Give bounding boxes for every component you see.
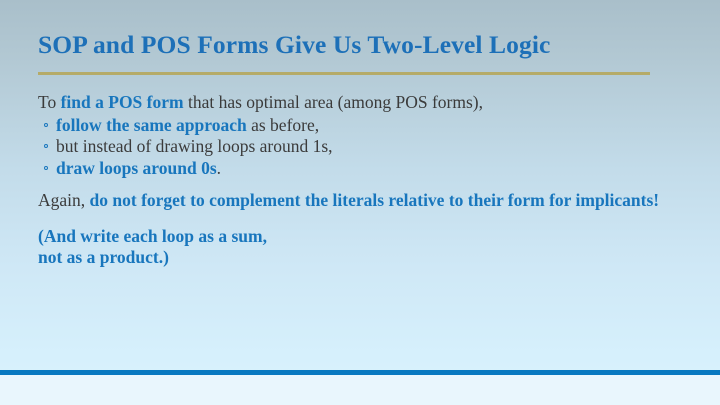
title-block: SOP and POS Forms Give Us Two-Level Logi… — [38, 30, 688, 60]
slide-body: To find a POS form that has optimal area… — [38, 92, 678, 269]
open-circle-bullet-icon — [44, 123, 48, 127]
list-item-emphasis: draw loops around 0s — [56, 158, 217, 178]
page-title: SOP and POS Forms Give Us Two-Level Logi… — [38, 30, 688, 60]
lead-paragraph: To find a POS form that has optimal area… — [38, 92, 678, 114]
list-item: follow the same approach as before, — [38, 115, 678, 137]
lead-suffix: that has optimal area (among POS forms), — [184, 92, 483, 112]
footer: ECE 120: Introduction to Computing © 201… — [0, 375, 720, 405]
note-paragraph: (And write each loop as a sum, not as a … — [38, 226, 678, 269]
open-circle-bullet-icon — [44, 166, 48, 170]
again-paragraph: Again, do not forget to complement the l… — [38, 190, 678, 212]
list-item-emphasis: follow the same approach — [56, 115, 247, 135]
title-underline-rule — [38, 72, 650, 75]
list-item-rest: . — [217, 158, 221, 178]
again-emphasis: do not forget to complement the literals… — [90, 190, 660, 210]
lead-prefix: To — [38, 92, 61, 112]
again-prefix: Again, — [38, 190, 90, 210]
list-item-rest: as before, — [247, 115, 319, 135]
open-circle-bullet-icon — [44, 144, 48, 148]
list-item-rest: but instead of drawing loops around 1s, — [56, 136, 333, 156]
lead-emphasis: find a POS form — [61, 92, 184, 112]
bullet-list: follow the same approach as before, but … — [38, 115, 678, 180]
list-item: but instead of drawing loops around 1s, — [38, 136, 678, 158]
list-item: draw loops around 0s. — [38, 158, 678, 180]
slide-canvas: SOP and POS Forms Give Us Two-Level Logi… — [0, 0, 720, 405]
